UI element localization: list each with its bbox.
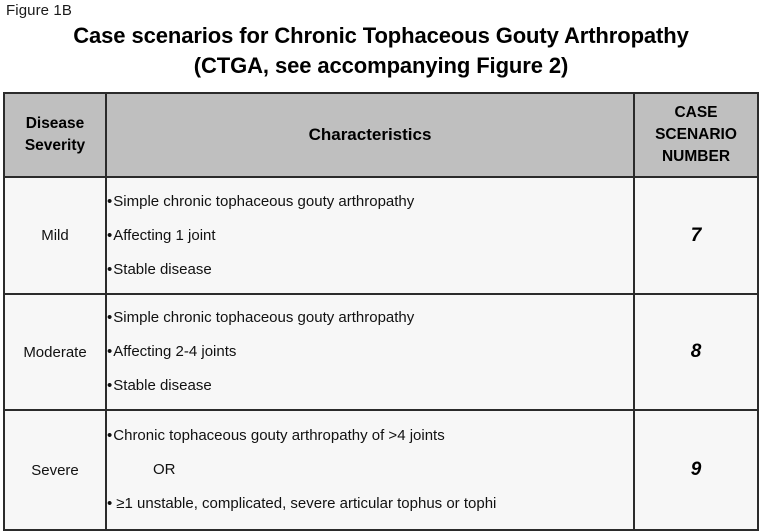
column-header-case-scenario-number: CASE SCENARIO NUMBER [634,93,758,177]
column-header-characteristics: Characteristics [106,93,634,177]
table-row: Severe Chronic tophaceous gouty arthropa… [4,410,758,530]
list-item: Simple chronic tophaceous gouty arthropa… [107,193,633,211]
characteristics-list: Simple chronic tophaceous gouty arthropa… [107,193,633,279]
figure-title-line-1: Case scenarios for Chronic Tophaceous Go… [0,21,762,51]
table-header-row: Disease Severity Characteristics CASE SC… [4,93,758,177]
characteristics-list: Simple chronic tophaceous gouty arthropa… [107,309,633,395]
cell-characteristics: Simple chronic tophaceous gouty arthropa… [106,177,634,294]
table-body: Mild Simple chronic tophaceous gouty art… [4,177,758,530]
cell-disease-severity: Mild [4,177,106,294]
list-item: Chronic tophaceous gouty arthropathy of … [107,427,633,445]
column-header-disease-severity-line-1: Disease [5,113,105,135]
table-row: Mild Simple chronic tophaceous gouty art… [4,177,758,294]
list-item: Affecting 2-4 joints [107,343,633,361]
column-header-case-line-2: SCENARIO [635,124,757,146]
case-scenarios-table-container: Disease Severity Characteristics CASE SC… [3,92,757,531]
figure-title: Case scenarios for Chronic Tophaceous Go… [0,21,762,81]
column-header-case-line-1: CASE [635,102,757,124]
table-row: Moderate Simple chronic tophaceous gouty… [4,294,758,410]
list-item: Stable disease [107,261,633,279]
list-item: Affecting 1 joint [107,227,633,245]
characteristics-list: Chronic tophaceous gouty arthropathy of … [107,427,633,513]
cell-characteristics: Chronic tophaceous gouty arthropathy of … [106,410,634,530]
case-scenarios-table: Disease Severity Characteristics CASE SC… [3,92,759,531]
column-header-case-line-3: NUMBER [635,146,757,168]
list-item: ≥1 unstable, complicated, severe articul… [107,495,633,513]
cell-case-scenario-number: 9 [634,410,758,530]
cell-characteristics: Simple chronic tophaceous gouty arthropa… [106,294,634,410]
cell-case-scenario-number: 7 [634,177,758,294]
list-item: Simple chronic tophaceous gouty arthropa… [107,309,633,327]
column-header-disease-severity-line-2: Severity [5,135,105,157]
column-header-characteristics-label: Characteristics [309,125,432,144]
list-item: Stable disease [107,377,633,395]
figure-label: Figure 1B [6,2,72,20]
cell-disease-severity: Moderate [4,294,106,410]
cell-case-scenario-number: 8 [634,294,758,410]
column-header-disease-severity: Disease Severity [4,93,106,177]
table-header: Disease Severity Characteristics CASE SC… [4,93,758,177]
figure-title-line-2: (CTGA, see accompanying Figure 2) [0,51,762,81]
cell-disease-severity: Severe [4,410,106,530]
list-item-or: OR [107,461,633,479]
